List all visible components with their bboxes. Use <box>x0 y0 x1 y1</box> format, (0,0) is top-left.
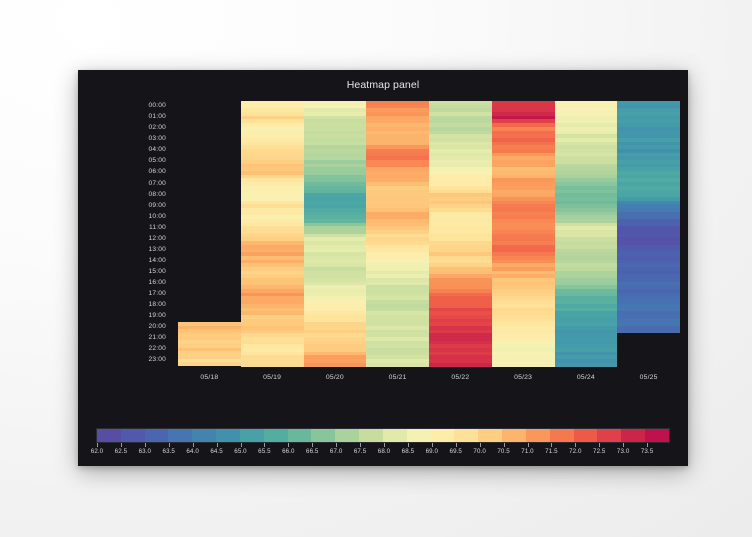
y-axis-tick-label: 10:00 <box>148 214 166 221</box>
legend-tick-label: 68.5 <box>402 448 414 455</box>
x-axis-tick-label: 05/18 <box>178 374 241 381</box>
y-axis-tick-label: 05:00 <box>148 158 166 165</box>
legend-tick-mark <box>312 443 313 447</box>
legend-tick-mark <box>432 443 433 447</box>
legend-color-block <box>478 429 502 442</box>
legend-tick-label: 69.5 <box>450 448 462 455</box>
y-axis-tick-label: 00:00 <box>148 103 166 110</box>
y-axis-tick-label: 23:00 <box>148 357 166 364</box>
legend-color-block <box>550 429 574 442</box>
legend-color-block <box>574 429 598 442</box>
legend-tick-mark <box>480 443 481 447</box>
legend-tick-label: 71.5 <box>545 448 557 455</box>
x-axis-tick-label: 05/24 <box>555 374 618 381</box>
legend-color-block <box>240 429 264 442</box>
legend-tick-label: 67.0 <box>330 448 342 455</box>
legend-tick-label: 62.0 <box>91 448 103 455</box>
color-legend: 62.062.563.063.564.064.565.065.566.066.5… <box>96 428 670 458</box>
legend-color-block <box>311 429 335 442</box>
x-axis-tick-label: 05/21 <box>366 374 429 381</box>
legend-tick-label: 66.0 <box>282 448 294 455</box>
legend-tick-label: 67.5 <box>354 448 366 455</box>
heatmap-column[interactable] <box>178 322 241 366</box>
legend-color-block <box>359 429 383 442</box>
y-axis-tick-label: 07:00 <box>148 181 166 188</box>
y-axis-tick-label: 11:00 <box>149 225 166 232</box>
legend-tick-label: 66.5 <box>306 448 318 455</box>
legend-tick-mark <box>121 443 122 447</box>
legend-color-block <box>145 429 169 442</box>
y-axis-time-labels: 00:0001:0002:0003:0004:0005:0006:0007:00… <box>78 101 174 366</box>
heatmap-plot-area[interactable] <box>178 101 680 366</box>
y-axis-tick-label: 01:00 <box>148 114 166 121</box>
legend-color-block <box>288 429 312 442</box>
legend-tick-label: 63.5 <box>163 448 175 455</box>
legend-color-block <box>431 429 455 442</box>
legend-tick-label: 73.0 <box>617 448 629 455</box>
legend-tick-mark <box>264 443 265 447</box>
legend-tick-label: 64.5 <box>210 448 222 455</box>
heatmap-column[interactable] <box>429 101 492 366</box>
legend-tick-mark <box>623 443 624 447</box>
heatmap-cell[interactable] <box>178 362 241 366</box>
y-axis-tick-label: 20:00 <box>148 324 166 331</box>
legend-tick-mark <box>288 443 289 447</box>
heatmap-cell[interactable] <box>555 363 618 367</box>
legend-color-block <box>526 429 550 442</box>
legend-tick-mark <box>169 443 170 447</box>
y-axis-tick-label: 22:00 <box>148 346 166 353</box>
y-axis-tick-label: 17:00 <box>148 291 166 298</box>
y-axis-tick-label: 15:00 <box>148 269 166 276</box>
y-axis-tick-label: 03:00 <box>148 136 166 143</box>
y-axis-tick-label: 02:00 <box>148 125 166 132</box>
legend-color-block <box>407 429 431 442</box>
legend-color-block <box>383 429 407 442</box>
heatmap-column[interactable] <box>304 101 367 366</box>
x-axis-tick-label: 05/22 <box>429 374 492 381</box>
legend-tick-label: 65.0 <box>234 448 246 455</box>
legend-tick-label: 71.0 <box>521 448 533 455</box>
legend-tick-label: 64.0 <box>186 448 198 455</box>
legend-tick-label: 72.5 <box>593 448 605 455</box>
legend-tick-mark <box>336 443 337 447</box>
heatmap-column[interactable] <box>366 101 429 366</box>
legend-color-block <box>97 429 121 442</box>
legend-color-block <box>454 429 478 442</box>
legend-color-block <box>645 429 669 442</box>
heatmap-column[interactable] <box>241 101 304 366</box>
legend-color-block <box>216 429 240 442</box>
legend-tick-mark <box>528 443 529 447</box>
y-axis-tick-label: 18:00 <box>148 302 166 309</box>
legend-color-block <box>597 429 621 442</box>
legend-tick-mark <box>145 443 146 447</box>
legend-tick-mark <box>456 443 457 447</box>
legend-tick-mark <box>97 443 98 447</box>
y-axis-tick-label: 14:00 <box>148 258 166 265</box>
y-axis-tick-label: 16:00 <box>148 280 166 287</box>
legend-tick-mark <box>647 443 648 447</box>
legend-tick-label: 68.0 <box>378 448 390 455</box>
heatmap-column[interactable] <box>617 101 680 333</box>
legend-tick-mark <box>193 443 194 447</box>
x-axis-tick-label: 05/23 <box>492 374 555 381</box>
x-axis-date-labels: 05/1805/1905/2005/2105/2205/2305/2405/25 <box>178 370 680 386</box>
heatmap-column[interactable] <box>492 101 555 366</box>
x-axis-tick-label: 05/20 <box>304 374 367 381</box>
page-title: Heatmap panel <box>78 79 688 91</box>
legend-color-block <box>192 429 216 442</box>
x-axis-tick-label: 05/25 <box>617 374 680 381</box>
x-axis-tick-label: 05/19 <box>241 374 304 381</box>
heatmap-cell[interactable] <box>492 363 555 367</box>
legend-color-block <box>264 429 288 442</box>
legend-tick-label: 72.0 <box>569 448 581 455</box>
heatmap-cell[interactable] <box>304 363 367 367</box>
heatmap-cell[interactable] <box>366 363 429 367</box>
y-axis-tick-label: 21:00 <box>148 335 166 342</box>
heatmap-column[interactable] <box>555 101 618 366</box>
legend-tick-mark <box>384 443 385 447</box>
y-axis-tick-label: 09:00 <box>148 203 166 210</box>
legend-tick-mark <box>575 443 576 447</box>
legend-tick-mark <box>241 443 242 447</box>
legend-tick-mark <box>599 443 600 447</box>
heatmap-cell[interactable] <box>429 363 492 367</box>
y-axis-tick-label: 06:00 <box>148 169 166 176</box>
color-legend-ticks: 62.062.563.063.564.064.565.065.566.066.5… <box>96 443 670 458</box>
y-axis-tick-label: 19:00 <box>148 313 166 320</box>
legend-tick-mark <box>360 443 361 447</box>
legend-color-block <box>621 429 645 442</box>
legend-tick-label: 70.5 <box>497 448 509 455</box>
color-legend-bar[interactable] <box>96 428 670 443</box>
heatmap-panel: Heatmap panel 00:0001:0002:0003:0004:000… <box>78 70 688 466</box>
legend-color-block <box>121 429 145 442</box>
legend-tick-label: 73.5 <box>641 448 653 455</box>
legend-color-block <box>502 429 526 442</box>
legend-tick-label: 63.0 <box>139 448 151 455</box>
legend-color-block <box>335 429 359 442</box>
y-axis-tick-label: 08:00 <box>148 192 166 199</box>
legend-tick-mark <box>217 443 218 447</box>
legend-tick-label: 62.5 <box>115 448 127 455</box>
legend-tick-label: 65.5 <box>258 448 270 455</box>
legend-tick-mark <box>504 443 505 447</box>
heatmap-cell[interactable] <box>241 363 304 367</box>
legend-tick-mark <box>551 443 552 447</box>
legend-tick-label: 70.0 <box>473 448 485 455</box>
y-axis-tick-label: 04:00 <box>148 147 166 154</box>
legend-tick-label: 69.0 <box>426 448 438 455</box>
y-axis-tick-label: 12:00 <box>148 236 166 243</box>
legend-color-block <box>168 429 192 442</box>
legend-tick-mark <box>408 443 409 447</box>
heatmap-cell[interactable] <box>617 330 680 334</box>
y-axis-tick-label: 13:00 <box>148 247 166 254</box>
